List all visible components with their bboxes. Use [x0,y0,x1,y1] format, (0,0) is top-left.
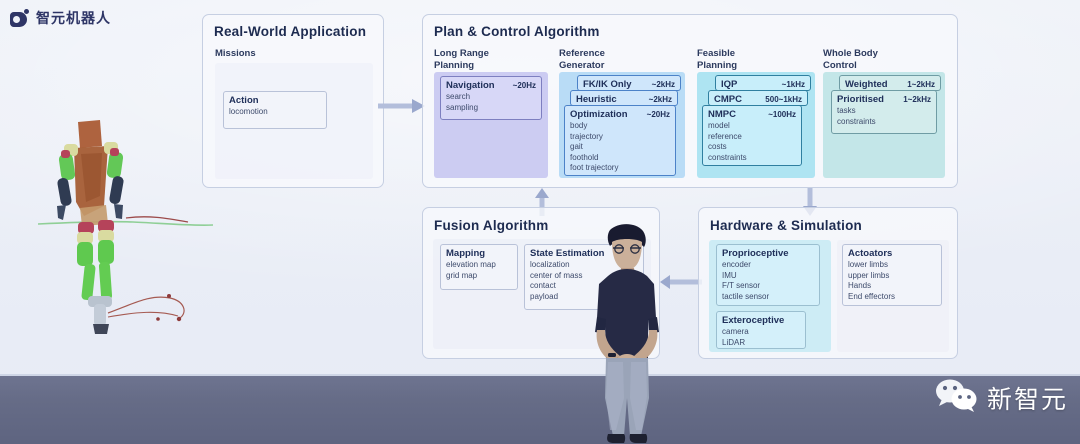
card-nmpc-name: NMPC [708,109,736,120]
card-navigation-name: Navigation [446,80,495,91]
card-action-items: locomotion [229,107,321,118]
card-mapping-name: Mapping [446,248,485,259]
robot-simulation-illustration [38,98,213,343]
card-proprioceptive-items: encoder IMU F/T sensor tactile sensor [722,260,814,302]
panel-real-world-application: Real-World Application Missions Action l… [202,14,384,188]
card-cmpc[interactable]: CMPC 500~1kHz [708,90,808,106]
card-optimization-name: Optimization [570,109,628,120]
card-proprioceptive-name: Proprioceptive [722,248,789,259]
card-actuators[interactable]: Actoators lower limbs upper limbs Hands … [842,244,942,306]
card-proprioceptive[interactable]: Proprioceptive encoder IMU F/T sensor ta… [716,244,820,306]
presentation-screenshot: 智元机器人 [0,0,1080,444]
agibot-logo-icon [10,9,30,27]
channel-watermark: 新智元 [935,378,1068,417]
brand-wordmark: 智元机器人 [36,8,111,28]
card-prioritised-items: tasks constraints [837,106,931,127]
panel-hardware-simulation: Hardware & Simulation Proprioceptive enc… [698,207,958,359]
column-title-whole-body-control: Whole Body Control [823,48,878,71]
card-navigation[interactable]: Navigation ~20Hz search sampling [440,76,542,120]
card-prioritised[interactable]: Prioritised 1~2kHz tasks constraints [831,90,937,134]
card-nmpc[interactable]: NMPC ~100Hz model reference costs constr… [702,105,802,166]
card-exteroceptive[interactable]: Exteroceptive camera LiDAR [716,311,806,349]
card-navigation-items: search sampling [446,92,536,113]
real-world-title: Real-World Application [214,24,366,39]
card-navigation-freq: ~20Hz [513,81,536,90]
card-weighted-name: Weighted [845,79,888,90]
hardware-title: Hardware & Simulation [710,218,862,233]
card-exteroceptive-name: Exteroceptive [722,315,784,326]
column-title-long-range: Long Range Planning [434,48,489,71]
card-action[interactable]: Action locomotion [223,91,327,129]
card-nmpc-items: model reference costs constraints [708,121,796,163]
card-actuators-name: Actoators [848,248,892,259]
brand-logo: 智元机器人 [10,8,111,28]
card-cmpc-name: CMPC [714,94,742,105]
fusion-title: Fusion Algorithm [434,218,548,233]
card-mapping[interactable]: Mapping elevation map grid map [440,244,518,290]
stage-floor [0,376,1080,444]
card-mapping-items: elevation map grid map [446,260,512,281]
card-fk-ik-only-name: FK/IK Only [583,79,632,90]
wechat-icon [935,378,979,417]
card-cmpc-freq: 500~1kHz [765,95,802,104]
column-title-feasible-planning: Feasible Planning [697,48,737,71]
watermark-text: 新智元 [987,380,1068,416]
card-iqp-freq: ~1kHz [782,80,805,89]
card-heuristic-name: Heuristic [576,94,617,105]
panel-plan-control-algorithm: Plan & Control Algorithm Long Range Plan… [422,14,958,188]
card-nmpc-freq: ~100Hz [768,110,796,119]
plan-control-title: Plan & Control Algorithm [434,24,600,39]
card-optimization-items: body trajectory gait foothold foot traje… [570,121,670,174]
card-fk-ik-only[interactable]: FK/IK Only ~2kHz [577,75,681,91]
column-title-reference-generator: Reference Generator [559,48,605,71]
card-heuristic[interactable]: Heuristic ~2kHz [570,90,678,106]
real-world-subtitle: Missions [215,48,256,60]
card-iqp[interactable]: IQP ~1kHz [715,75,811,91]
card-weighted[interactable]: Weighted 1~2kHz [839,75,941,91]
card-actuators-items: lower limbs upper limbs Hands End effect… [848,260,936,302]
speaker-person [578,222,674,444]
card-prioritised-name: Prioritised [837,94,884,105]
card-optimization-freq: ~20Hz [647,110,670,119]
card-fk-ik-only-freq: ~2kHz [652,80,675,89]
card-heuristic-freq: ~2kHz [649,95,672,104]
card-optimization[interactable]: Optimization ~20Hz body trajectory gait … [564,105,676,176]
card-weighted-freq: 1~2kHz [907,80,935,89]
card-iqp-name: IQP [721,79,737,90]
card-exteroceptive-items: camera LiDAR [722,327,800,348]
arrow-realworld-to-plan [378,98,426,114]
card-action-name: Action [229,95,259,106]
floor-wall-seam [0,374,1080,376]
card-prioritised-freq: 1~2kHz [903,95,931,104]
